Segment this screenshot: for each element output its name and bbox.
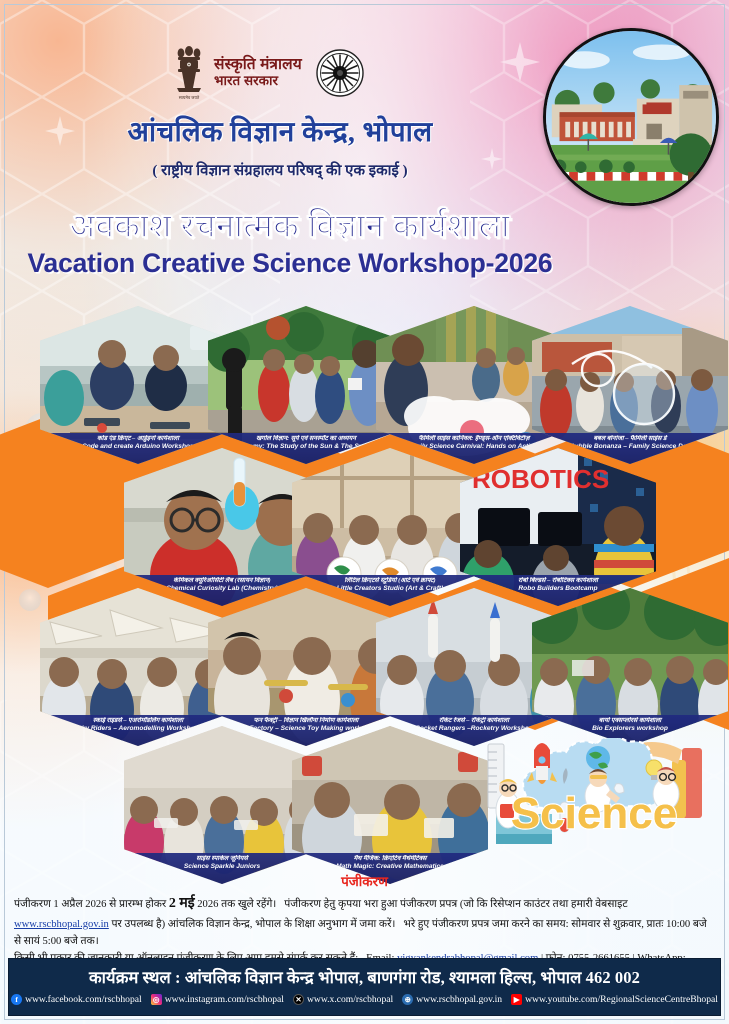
reg-line1-c: पंजीकरण हेतु कृपया भरा हुआ पंजीकरण प्रपत… (284, 899, 627, 910)
science-word-fill: Science (511, 789, 677, 838)
social-link-website[interactable]: ⊕ www.rscbhopal.gov.in (402, 994, 502, 1005)
nscm-wheel-logo-icon (316, 49, 364, 97)
social-link-instagram[interactable]: ◎ www.instagram.com/rscbhopal (151, 994, 284, 1005)
registration-heading: पंजीकरण (14, 872, 715, 890)
event-title-hindi: अवकाश रचनात्मक विज्ञान कार्यशाला (0, 202, 580, 247)
instagram-icon: ◎ (151, 994, 162, 1005)
poster-footer: कार्यक्रम स्थल : आंचलिक विज्ञान केन्द्र … (8, 958, 721, 1016)
reg-line1-a: पंजीकरण 1 अप्रैल 2026 से प्रारम्भ होकर (14, 899, 166, 910)
ministry-name-line2: भारत सरकार (214, 74, 302, 89)
centre-unit-subtitle: ( राष्ट्रीय विज्ञान संग्रहालय परिषद् की … (0, 160, 560, 180)
social-link-x[interactable]: ✕ www.x.com/rscbhopal (293, 994, 393, 1005)
ministry-branding: सत्यमेव जयते संस्कृति मंत्रालय भारत सरका… (172, 44, 364, 102)
india-state-emblem-icon: सत्यमेव जयते (172, 44, 206, 102)
website-link[interactable]: www.rscbhopal.gov.in (14, 919, 109, 930)
event-title-english: Vacation Creative Science Workshop-2026 (0, 248, 580, 279)
reg-line1-d: पर उपलब्ध है) आंचलिक विज्ञान केन्द्र, भो… (112, 919, 396, 930)
website-globe-icon: ⊕ (402, 994, 413, 1005)
ministry-name: संस्कृति मंत्रालय भारत सरकार (214, 57, 302, 88)
x-url: www.x.com/rscbhopal (307, 994, 393, 1005)
facebook-icon: f (11, 994, 22, 1005)
caption-hindi: स्काई राइडर्स – एअरोमॉडलिंग कार्यशाला (40, 717, 236, 725)
caption-hindi: फन फैक्ट्री – विज्ञान खिलौना निर्माण कार… (208, 717, 404, 725)
poster-header: सत्यमेव जयते संस्कृति मंत्रालय भारत सरका… (0, 0, 729, 300)
reg-line1-b: 2026 तक खुले रहेंगे। (197, 899, 276, 910)
registration-paragraph-1: पंजीकरण 1 अप्रैल 2026 से प्रारम्भ होकर 2… (14, 893, 715, 950)
social-link-youtube[interactable]: ▶ www.youtube.com/RegionalScienceCentreB… (511, 994, 718, 1005)
social-links-bar: f www.facebook.com/rscbhopal ◎ www.insta… (9, 994, 720, 1005)
website-url: www.rscbhopal.gov.in (416, 994, 502, 1005)
poster-root: सत्यमेव जयते संस्कृति मंत्रालय भारत सरका… (0, 0, 729, 1024)
reg-deadline-date: 2 मई (169, 896, 195, 911)
caption-hindi: बायो एक्सप्लोरर्स कार्यशाला (532, 717, 728, 725)
caption-english: Bio Explorers workshop (532, 725, 728, 734)
svg-text:सत्यमेव जयते: सत्यमेव जयते (179, 95, 200, 100)
social-link-facebook[interactable]: f www.facebook.com/rscbhopal (11, 994, 142, 1005)
workshop-card[interactable]: बबल बोनांजा – फैमिली साइंस डे Bubble Bon… (532, 306, 728, 464)
centre-name: आंचलिक विज्ञान केन्द्र, भोपाल (0, 112, 560, 150)
x-twitter-icon: ✕ (293, 994, 304, 1005)
youtube-icon: ▶ (511, 994, 522, 1005)
globe-icon (586, 746, 610, 770)
centre-building-photo (543, 28, 719, 206)
youtube-url: www.youtube.com/RegionalScienceCentreBho… (525, 994, 718, 1005)
science-cloud-logo: Science Science (486, 738, 704, 850)
instagram-url: www.instagram.com/rscbhopal (165, 994, 284, 1005)
venue-address: कार्यक्रम स्थल : आंचलिक विज्ञान केन्द्र … (9, 959, 720, 988)
ministry-name-line1: संस्कृति मंत्रालय (214, 57, 302, 74)
facebook-url: www.facebook.com/rscbhopal (25, 994, 142, 1005)
